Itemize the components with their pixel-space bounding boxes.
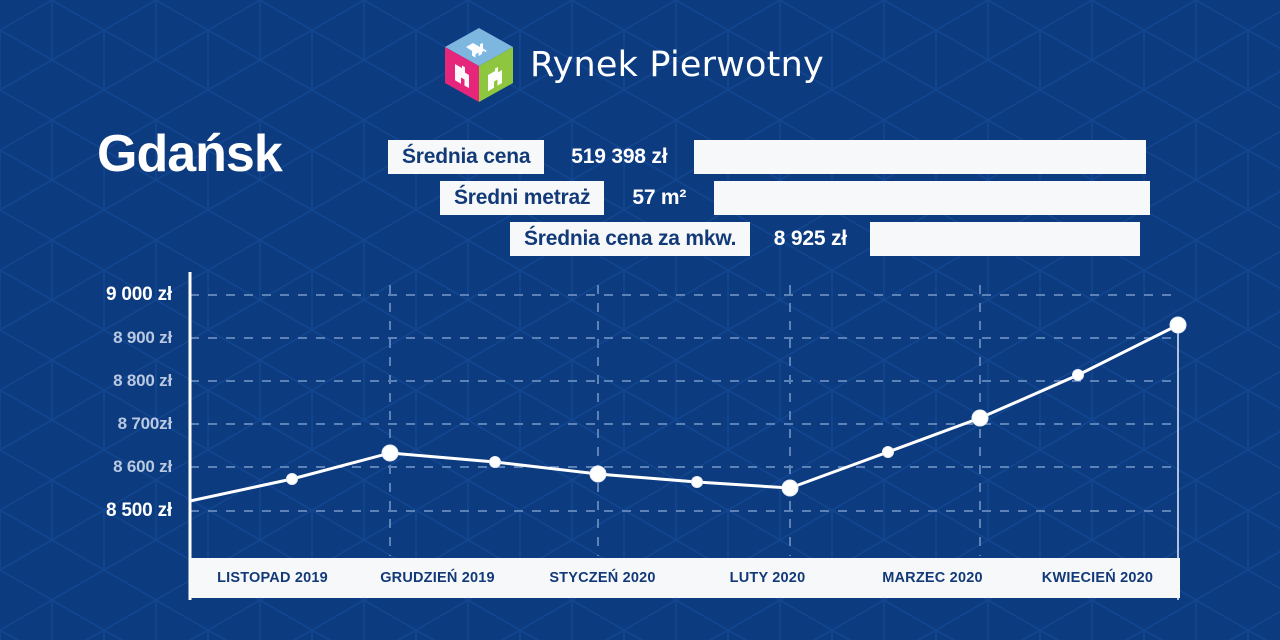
stat-label-average-area: Średni metraż [440, 181, 604, 215]
x-axis-tick-label: GRUDZIEŃ 2019 [355, 570, 520, 586]
stat-value-average-area: 57 m² [604, 181, 714, 215]
stat-value-price-per-sqm: 8 925 zł [750, 222, 870, 256]
data-point-marker [972, 410, 988, 426]
x-axis-tick-label: LISTOPAD 2019 [190, 570, 355, 586]
stat-row-price-per-sqm: Średnia cena za mkw. 8 925 zł [510, 222, 1140, 256]
data-point-marker [382, 445, 398, 461]
page-title: Gdańsk [97, 128, 282, 180]
x-axis-tick-label: MARZEC 2020 [850, 570, 1015, 586]
chart-x-axis-labels: LISTOPAD 2019GRUDZIEŃ 2019STYCZEŃ 2020LU… [190, 558, 1180, 598]
data-point-marker [692, 477, 703, 488]
isometric-cube-houses-logo-icon [442, 26, 516, 104]
data-point-marker [287, 474, 298, 485]
brand-name: Rynek Pierwotny [530, 45, 824, 85]
data-point-marker [1170, 317, 1186, 333]
stat-value-average-price: 519 398 zł [544, 140, 694, 174]
stat-row-average-area: Średni metraż 57 m² [440, 181, 1150, 215]
data-point-marker [782, 480, 798, 496]
data-point-marker [590, 466, 606, 482]
stat-bar-average-price [694, 140, 1146, 174]
infographic-canvas: Rynek Pierwotny Gdańsk Średnia cena 519 … [0, 0, 1280, 640]
stat-label-average-price: Średnia cena [388, 140, 544, 174]
stat-bar-average-area [714, 181, 1150, 215]
data-point-marker [490, 457, 501, 468]
stat-label-price-per-sqm: Średnia cena za mkw. [510, 222, 750, 256]
stat-bar-price-per-sqm [870, 222, 1140, 256]
brand-logo: Rynek Pierwotny [442, 26, 824, 104]
x-axis-tick-label: LUTY 2020 [685, 570, 850, 586]
stat-row-average-price: Średnia cena 519 398 zł [388, 140, 1146, 174]
data-point-marker [1073, 370, 1084, 381]
x-axis-tick-label: STYCZEŃ 2020 [520, 570, 685, 586]
series-line-average-price-per-sqm [190, 325, 1178, 501]
data-point-marker [883, 447, 894, 458]
x-axis-tick-label: KWIECIEŃ 2020 [1015, 570, 1180, 586]
